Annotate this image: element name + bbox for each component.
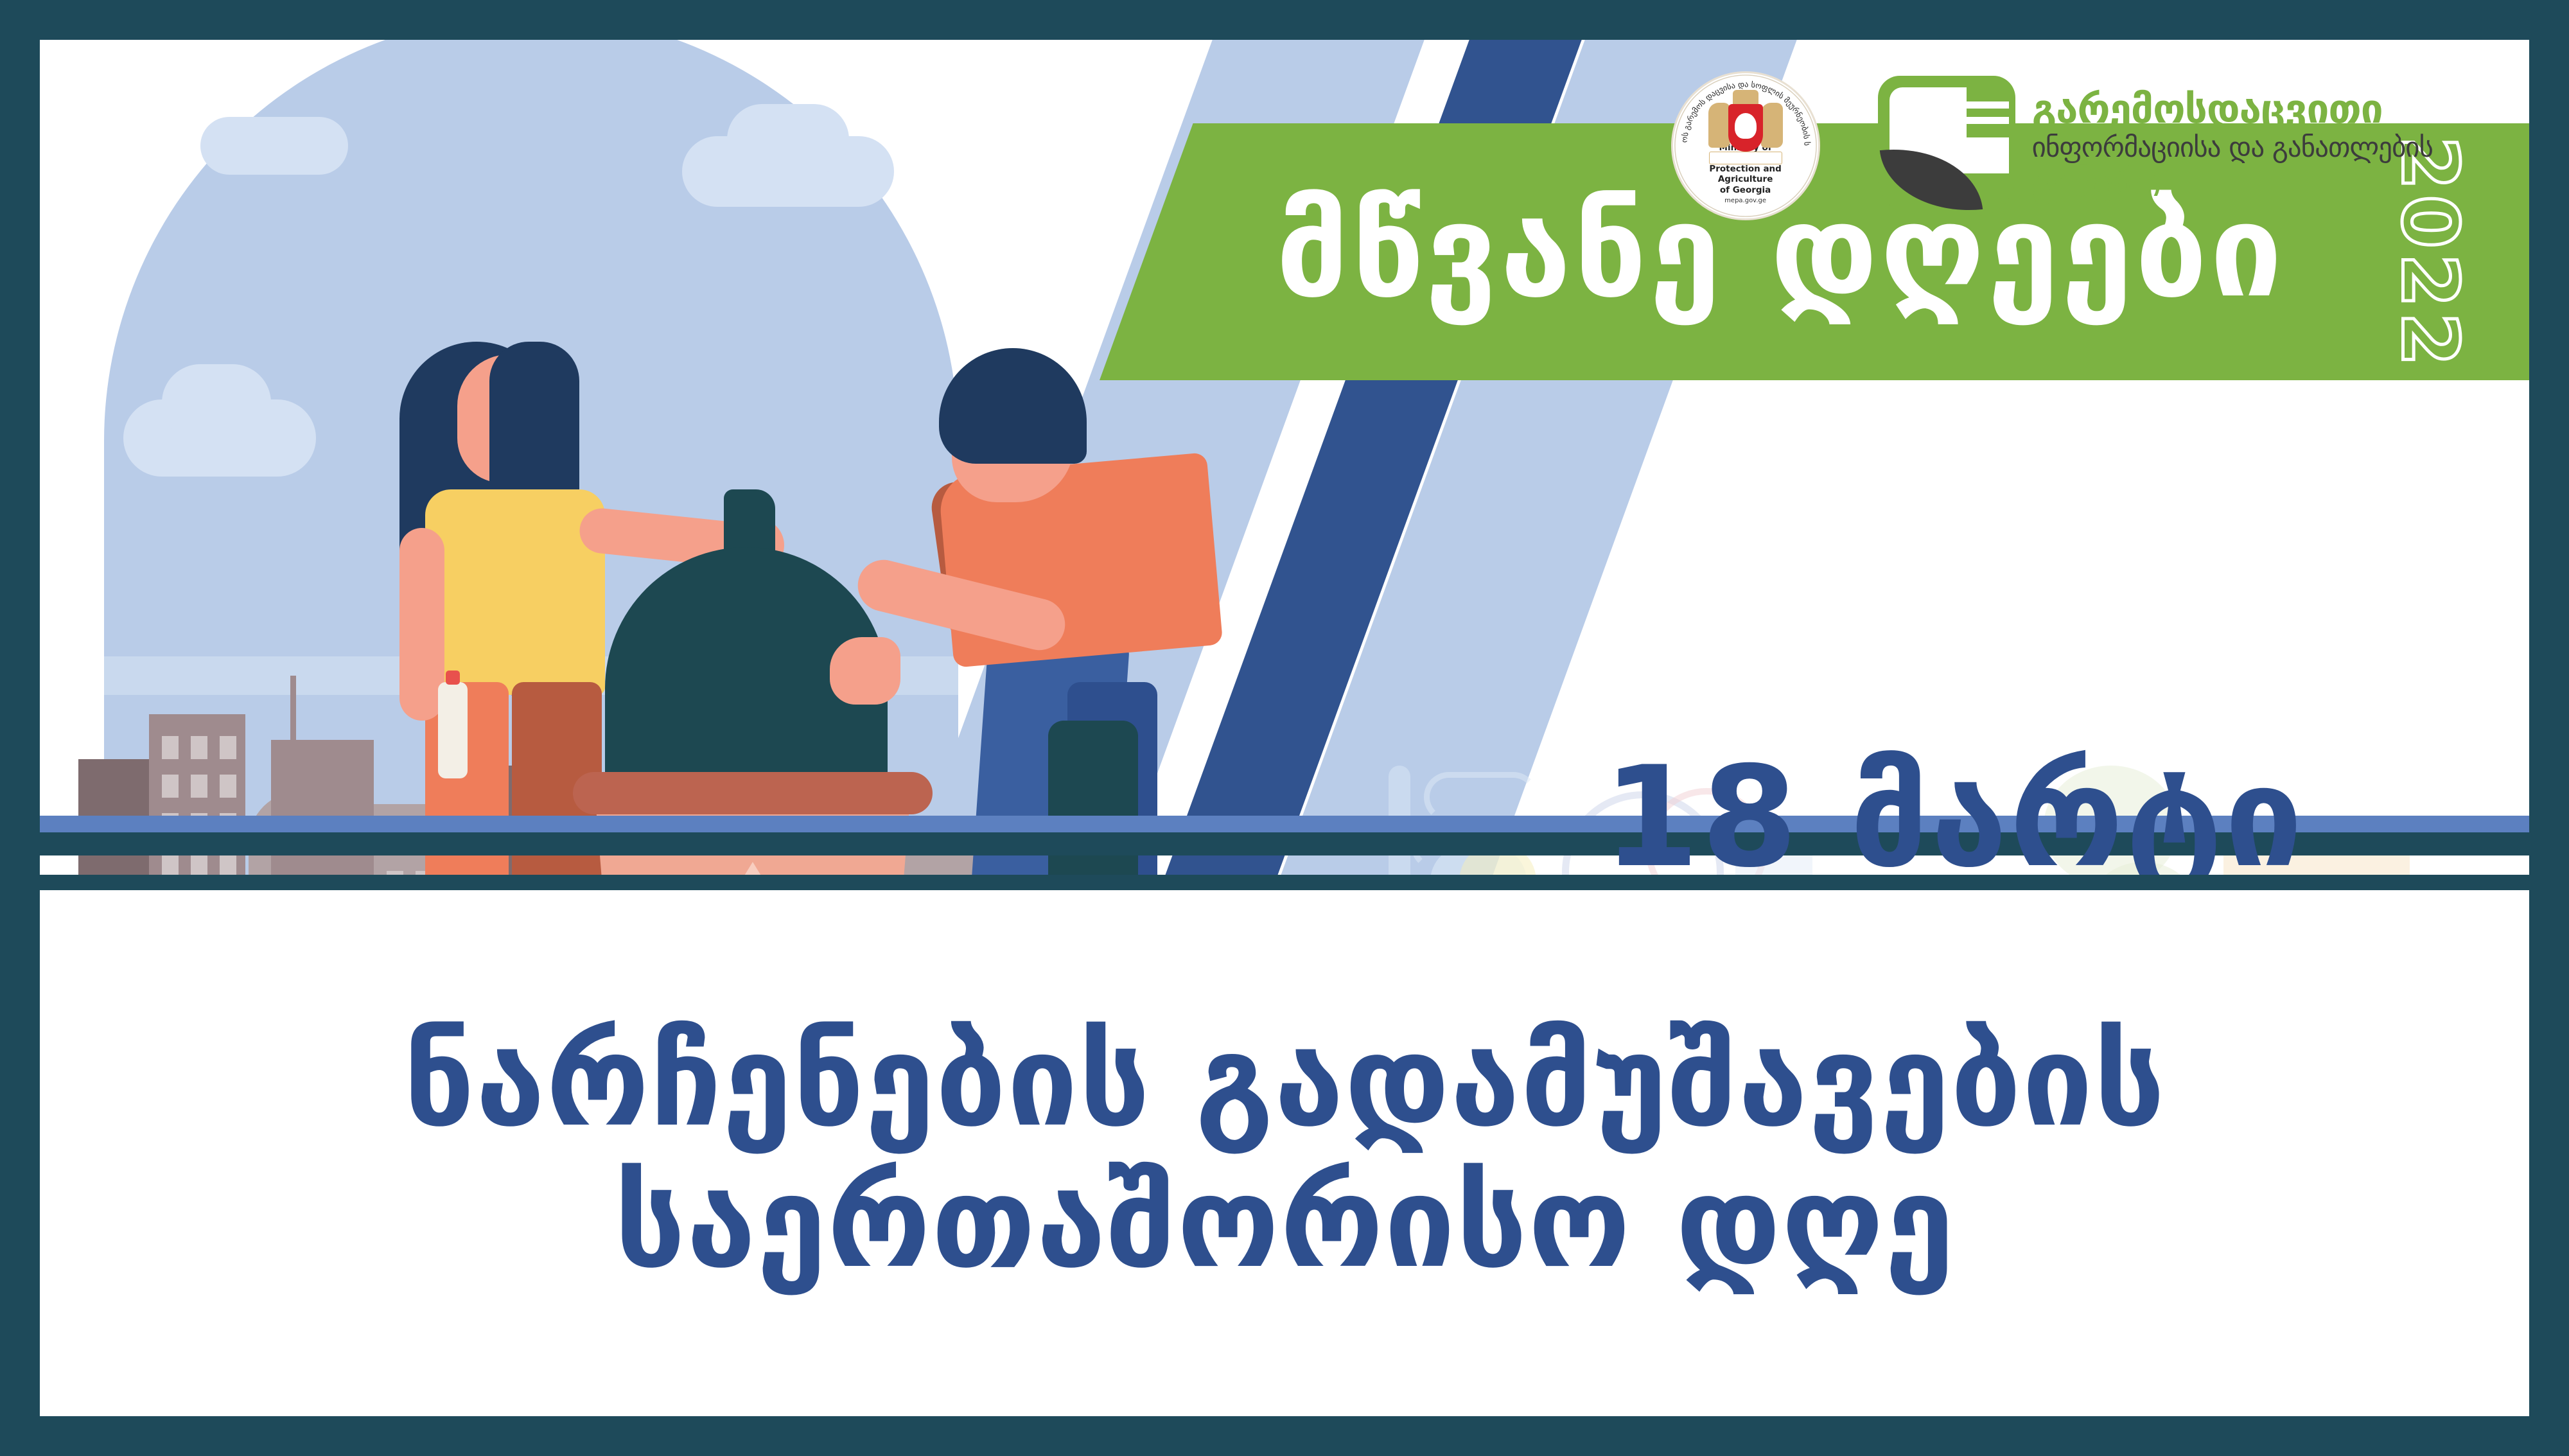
ministry-seal: საქართველოს გარემოს დაცვისა და სოფლის მე… [1671,71,1820,220]
woman-shirt [425,489,605,695]
coat-of-arms-icon [1707,90,1784,166]
bottom-panel: ნარჩენების გადამუშავების საერთაშორისო დღ… [40,890,2529,1415]
event-date: 18 მარტი [1453,721,2455,875]
shield-icon [1728,104,1763,152]
man-hand [830,637,900,705]
ciec-mark-icon [1878,76,2015,216]
poster-inner: მწვანე დღეები 2022 18 მარტი საქართველოს … [40,40,2529,1416]
plastic-bottle-icon [438,682,468,778]
ciec-line3: ცენტრი [2032,164,2433,203]
window [220,775,236,798]
headline-line-2: საერთაშორისო დღე [614,1153,1955,1294]
ciec-line1: გარემოსდაცვითი [2032,89,2433,130]
logo-row: საქართველოს გარემოს დაცვისა და სოფლის მე… [1671,66,2433,226]
horseman-icon [1735,113,1757,139]
window [162,736,179,759]
cloud-icon [200,117,348,175]
headline-line-1: ნარჩენების გადამუშავების [403,1012,2166,1153]
ciec-bar [1960,117,2009,124]
lion-icon [1708,103,1730,148]
crown-icon [1733,90,1758,104]
ciec-wordmark: გარემოსდაცვითი ინფორმაციისა და განათლები… [2032,89,2433,203]
seal-scroll [1709,152,1782,164]
ciec-bar [1960,101,2009,109]
cloud-icon [123,399,316,477]
poster-frame: მწვანე დღეები 2022 18 მარტი საქართველოს … [0,0,2569,1456]
window [162,775,179,798]
ciec-logo: გარემოსდაცვითი ინფორმაციისა და განათლები… [1878,76,2433,216]
section-divider [40,875,2529,890]
recycle-bin-lid [573,772,933,814]
window [220,736,236,759]
man-hair [939,348,1087,464]
recycle-symbol-icon [695,862,811,875]
top-panel: მწვანე დღეები 2022 18 მარტი საქართველოს … [40,40,2529,875]
window [191,775,207,798]
window [191,736,207,759]
lion-icon [1761,103,1783,148]
cloud-icon [682,136,894,207]
ciec-line2: ინფორმაციისა და განათლების [2032,134,2433,162]
